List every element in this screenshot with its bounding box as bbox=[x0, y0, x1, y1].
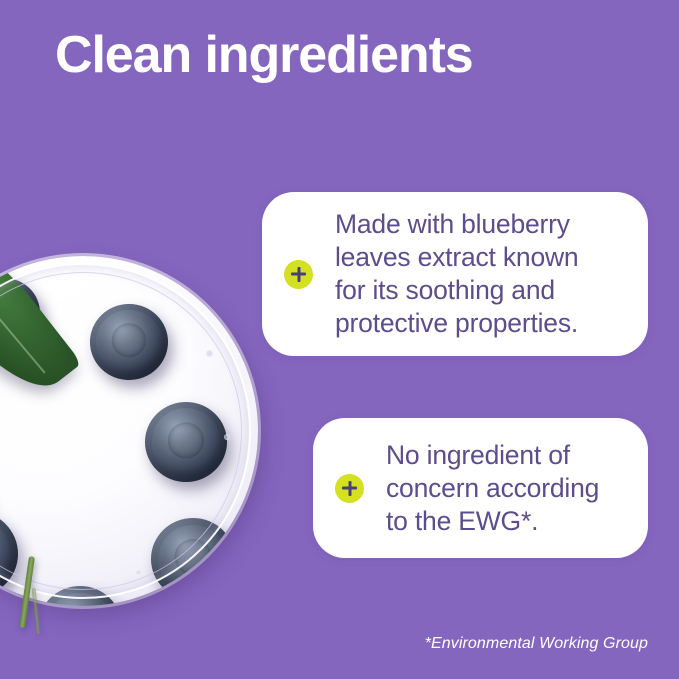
marketing-infographic: Clean ingredients bbox=[0, 0, 679, 679]
feature-card-text: Made with blueberry leaves extract known… bbox=[335, 208, 578, 340]
footnote: *Environmental Working Group bbox=[425, 635, 648, 653]
feature-card-ewg: No ingredient of concern according to th… bbox=[313, 418, 648, 558]
dish-droplet bbox=[206, 350, 213, 357]
dish-droplet bbox=[136, 570, 141, 575]
petri-dish bbox=[0, 256, 258, 606]
plus-badge-icon bbox=[284, 260, 313, 289]
page-title: Clean ingredients bbox=[55, 26, 473, 86]
blueberry-petri-dish-photo bbox=[0, 256, 258, 634]
dish-droplet bbox=[224, 434, 230, 440]
feature-card-ingredients: Made with blueberry leaves extract known… bbox=[262, 192, 648, 356]
plus-badge-icon bbox=[335, 474, 364, 503]
feature-card-text: No ingredient of concern according to th… bbox=[386, 439, 599, 538]
